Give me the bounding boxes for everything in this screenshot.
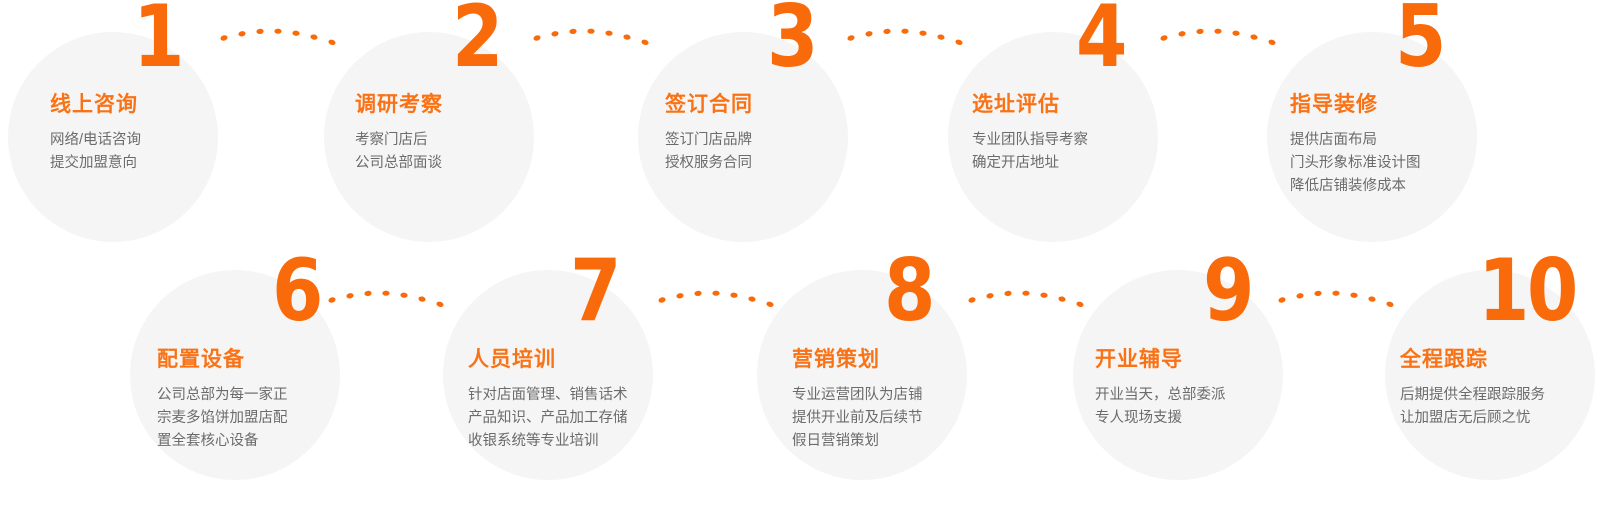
step-text-8: 营销策划专业运营团队为店铺提供开业前及后续节假日营销策划 [792, 349, 923, 453]
connector-dot [1350, 292, 1358, 298]
step-description-line: 收银系统等专业培训 [468, 430, 628, 453]
step-number-5: 5 [1395, 0, 1444, 80]
connector-dot [919, 30, 927, 36]
step-description-line: 授权服务合同 [665, 152, 753, 175]
connector-dot [1368, 296, 1376, 303]
step-title-2: 调研考察 [355, 94, 443, 115]
step-description-line: 提供店面布局 [1290, 129, 1421, 152]
connector-8-9 [966, 280, 1086, 314]
connector-dot [1160, 34, 1168, 41]
connector-dot [418, 296, 426, 303]
step-title-6: 配置设备 [157, 349, 288, 370]
step-title-4: 选址评估 [972, 94, 1088, 115]
connector-dot [694, 290, 702, 296]
connector-dot [220, 34, 228, 41]
step-description-line: 让加盟店无后顾之忧 [1400, 407, 1545, 430]
connector-dot [533, 34, 541, 41]
connector-1-2 [218, 18, 338, 52]
step-title-7: 人员培训 [468, 349, 628, 370]
step-text-7: 人员培训针对店面管理、销售话术产品知识、产品加工存储收银系统等专业培训 [468, 349, 628, 453]
connector-dot [436, 301, 444, 308]
step-title-1: 线上咨询 [50, 94, 141, 115]
connector-dot [623, 34, 631, 41]
connector-dot [766, 301, 774, 308]
step-title-10: 全程跟踪 [1400, 349, 1545, 370]
connector-dot [730, 292, 738, 298]
connector-dot [712, 291, 719, 296]
step-number-9: 9 [1203, 248, 1252, 334]
step-description-line: 假日营销策划 [792, 430, 923, 453]
step-description-line: 置全套核心设备 [157, 430, 288, 453]
connector-dot [569, 28, 577, 34]
step-title-3: 签订合同 [665, 94, 753, 115]
connector-dot [883, 28, 891, 34]
connector-dot [328, 39, 336, 46]
connector-dot [1178, 31, 1186, 38]
connector-dot [1232, 30, 1240, 36]
connector-dot [328, 296, 336, 303]
connector-dot [1076, 301, 1084, 308]
connector-dot [1314, 290, 1322, 296]
step-text-9: 开业辅导开业当天，总部委派专人现场支援 [1095, 349, 1226, 430]
step-number-2: 2 [452, 0, 501, 80]
connector-dot [847, 34, 855, 41]
franchise-process-flow: 1线上咨询网络/电话咨询提交加盟意向2调研考察考察门店后公司总部面谈3签订合同签… [0, 0, 1606, 508]
step-description-line: 提供开业前及后续节 [792, 407, 923, 430]
connector-dot [1058, 296, 1066, 303]
connector-dot [1022, 291, 1029, 296]
connector-dot [1386, 301, 1394, 308]
connector-dot [1268, 39, 1276, 46]
connector-dot [292, 30, 300, 36]
step-description-line: 宗麦多馅饼加盟店配 [157, 407, 288, 430]
connector-dot [256, 28, 264, 34]
step-description-line: 确定开店地址 [972, 152, 1088, 175]
connector-dot [1196, 28, 1204, 34]
step-description-line: 专业运营团队为店铺 [792, 384, 923, 407]
step-text-2: 调研考察考察门店后公司总部面谈 [355, 94, 443, 175]
step-description-2: 考察门店后公司总部面谈 [355, 129, 443, 175]
connector-dot [605, 30, 613, 36]
step-number-10: 10 [1478, 248, 1576, 334]
connector-dot [865, 31, 873, 38]
step-description-line: 专业团队指导考察 [972, 129, 1088, 152]
step-description-line: 后期提供全程跟踪服务 [1400, 384, 1545, 407]
connector-4-5 [1158, 18, 1278, 52]
step-text-4: 选址评估专业团队指导考察确定开店地址 [972, 94, 1088, 175]
step-description-line: 降低店铺装修成本 [1290, 175, 1421, 198]
connector-dot [382, 291, 389, 296]
step-number-3: 3 [767, 0, 816, 80]
connector-dot [1214, 29, 1221, 34]
step-number-4: 4 [1076, 0, 1125, 80]
step-description-line: 专人现场支援 [1095, 407, 1226, 430]
step-description-4: 专业团队指导考察确定开店地址 [972, 129, 1088, 175]
connector-2-3 [531, 18, 651, 52]
connector-dot [1296, 293, 1304, 300]
step-description-line: 产品知识、产品加工存储 [468, 407, 628, 430]
step-number-7: 7 [570, 248, 619, 334]
connector-dot [676, 293, 684, 300]
connector-dot [1250, 34, 1258, 41]
connector-dot [986, 293, 994, 300]
step-description-9: 开业当天，总部委派专人现场支援 [1095, 384, 1226, 430]
step-description-1: 网络/电话咨询提交加盟意向 [50, 129, 141, 175]
connector-7-8 [656, 280, 776, 314]
step-description-8: 专业运营团队为店铺提供开业前及后续节假日营销策划 [792, 384, 923, 453]
step-description-line: 考察门店后 [355, 129, 443, 152]
step-description-3: 签订门店品牌授权服务合同 [665, 129, 753, 175]
connector-dot [1004, 290, 1012, 296]
connector-dot [937, 34, 945, 41]
step-text-5: 指导装修提供店面布局门头形象标准设计图降低店铺装修成本 [1290, 94, 1421, 198]
connector-dot [551, 31, 559, 38]
connector-dot [901, 29, 908, 34]
step-text-6: 配置设备公司总部为每一家正宗麦多馅饼加盟店配置全套核心设备 [157, 349, 288, 453]
step-number-6: 6 [272, 248, 321, 334]
step-description-5: 提供店面布局门头形象标准设计图降低店铺装修成本 [1290, 129, 1421, 198]
connector-dot [641, 39, 649, 46]
connector-dot [238, 31, 246, 38]
step-description-line: 开业当天，总部委派 [1095, 384, 1226, 407]
step-title-9: 开业辅导 [1095, 349, 1226, 370]
step-description-6: 公司总部为每一家正宗麦多馅饼加盟店配置全套核心设备 [157, 384, 288, 453]
step-text-10: 全程跟踪后期提供全程跟踪服务让加盟店无后顾之忧 [1400, 349, 1545, 430]
connector-dot [364, 290, 372, 296]
step-number-8: 8 [884, 248, 933, 334]
step-description-line: 公司总部面谈 [355, 152, 443, 175]
connector-dot [955, 39, 963, 46]
connector-dot [346, 293, 354, 300]
connector-dot [748, 296, 756, 303]
step-description-line: 针对店面管理、销售话术 [468, 384, 628, 407]
step-title-8: 营销策划 [792, 349, 923, 370]
connector-3-4 [845, 18, 965, 52]
step-number-1: 1 [133, 0, 182, 80]
step-text-1: 线上咨询网络/电话咨询提交加盟意向 [50, 94, 141, 175]
step-description-line: 门头形象标准设计图 [1290, 152, 1421, 175]
connector-dot [1278, 296, 1286, 303]
step-description-line: 公司总部为每一家正 [157, 384, 288, 407]
connector-6-7 [326, 280, 446, 314]
step-description-7: 针对店面管理、销售话术产品知识、产品加工存储收银系统等专业培训 [468, 384, 628, 453]
step-description-line: 签订门店品牌 [665, 129, 753, 152]
connector-9-10 [1276, 280, 1396, 314]
connector-dot [658, 296, 666, 303]
step-text-3: 签订合同签订门店品牌授权服务合同 [665, 94, 753, 175]
connector-dot [1332, 291, 1339, 296]
step-title-5: 指导装修 [1290, 94, 1421, 115]
connector-dot [968, 296, 976, 303]
step-description-line: 提交加盟意向 [50, 152, 141, 175]
step-description-line: 网络/电话咨询 [50, 129, 141, 152]
step-description-10: 后期提供全程跟踪服务让加盟店无后顾之忧 [1400, 384, 1545, 430]
connector-dot [400, 292, 408, 298]
connector-dot [310, 34, 318, 41]
connector-dot [274, 29, 281, 34]
connector-dot [1040, 292, 1048, 298]
connector-dot [587, 29, 594, 34]
